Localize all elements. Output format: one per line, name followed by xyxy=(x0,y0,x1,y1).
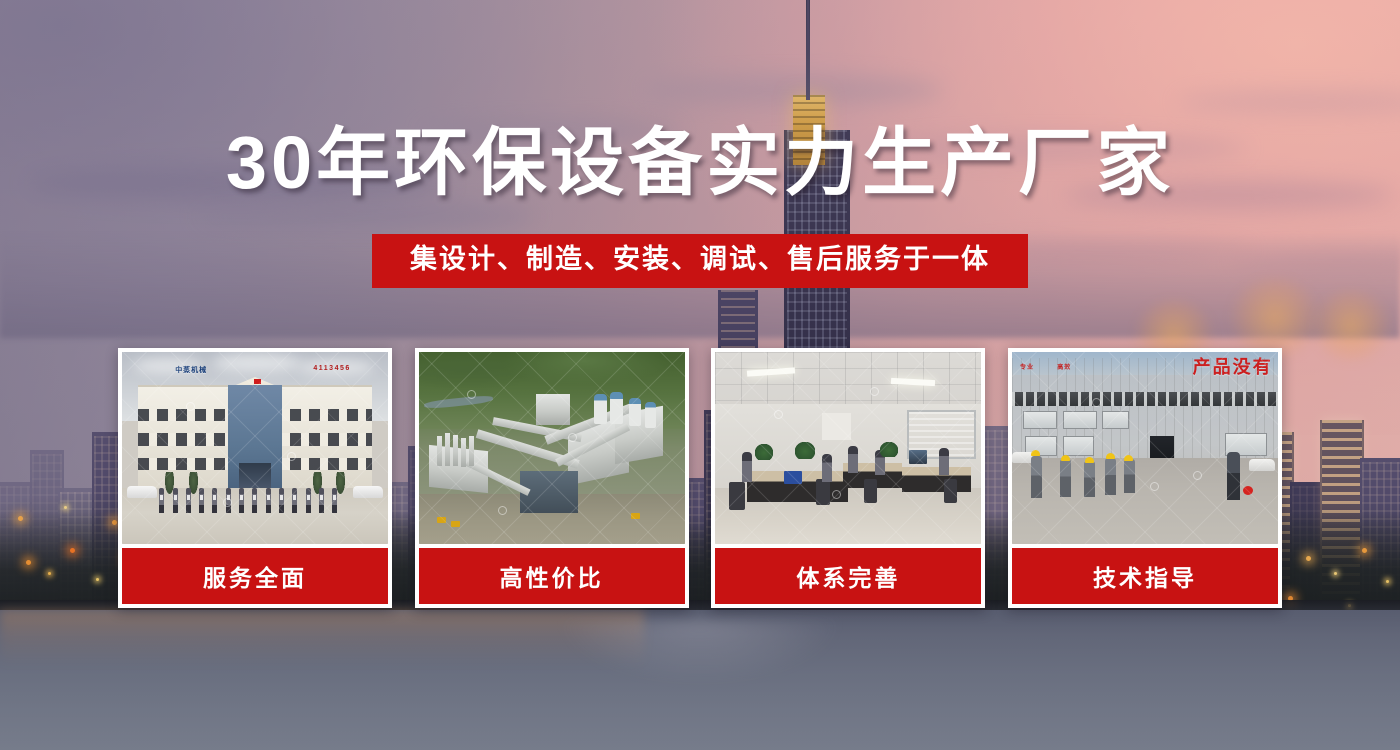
building-sign-text: 中蒸机械 xyxy=(175,365,207,375)
card-caption: 体系完善 xyxy=(715,548,981,604)
subtitle-container: 集设计、制造、安装、调试、售后服务于一体 xyxy=(0,234,1400,288)
factory-sign-small-right: 高效 xyxy=(1057,364,1071,373)
subtitle-banner: 集设计、制造、安装、调试、售后服务于一体 xyxy=(372,234,1028,288)
office-interior-photo xyxy=(715,352,981,544)
feature-card-list: 中蒸机械 4113456 xyxy=(118,348,1282,608)
feature-card[interactable]: 中蒸机械 4113456 xyxy=(118,348,392,608)
worker-training-photo: 产品没有 专业 高效 xyxy=(1012,352,1278,544)
card-caption: 技术指导 xyxy=(1012,548,1278,604)
factory-sign-small-left: 专业 xyxy=(1020,364,1034,373)
factory-sign-text: 产品没有 xyxy=(1193,358,1273,376)
card-caption: 高性价比 xyxy=(419,548,685,604)
page-title: 30年环保设备实力生产厂家 xyxy=(0,126,1400,200)
feature-card[interactable]: 产品没有 专业 高效 xyxy=(1008,348,1282,608)
building-phone-text: 4113456 xyxy=(313,365,350,372)
company-headquarters-photo: 中蒸机械 4113456 xyxy=(122,352,388,544)
feature-card[interactable]: 高性价比 xyxy=(415,348,689,608)
promo-banner: 30年环保设备实力生产厂家 集设计、制造、安装、调试、售后服务于一体 xyxy=(0,0,1400,750)
feature-card[interactable]: 体系完善 xyxy=(711,348,985,608)
card-caption: 服务全面 xyxy=(122,548,388,604)
industrial-plant-aerial-photo xyxy=(419,352,685,544)
